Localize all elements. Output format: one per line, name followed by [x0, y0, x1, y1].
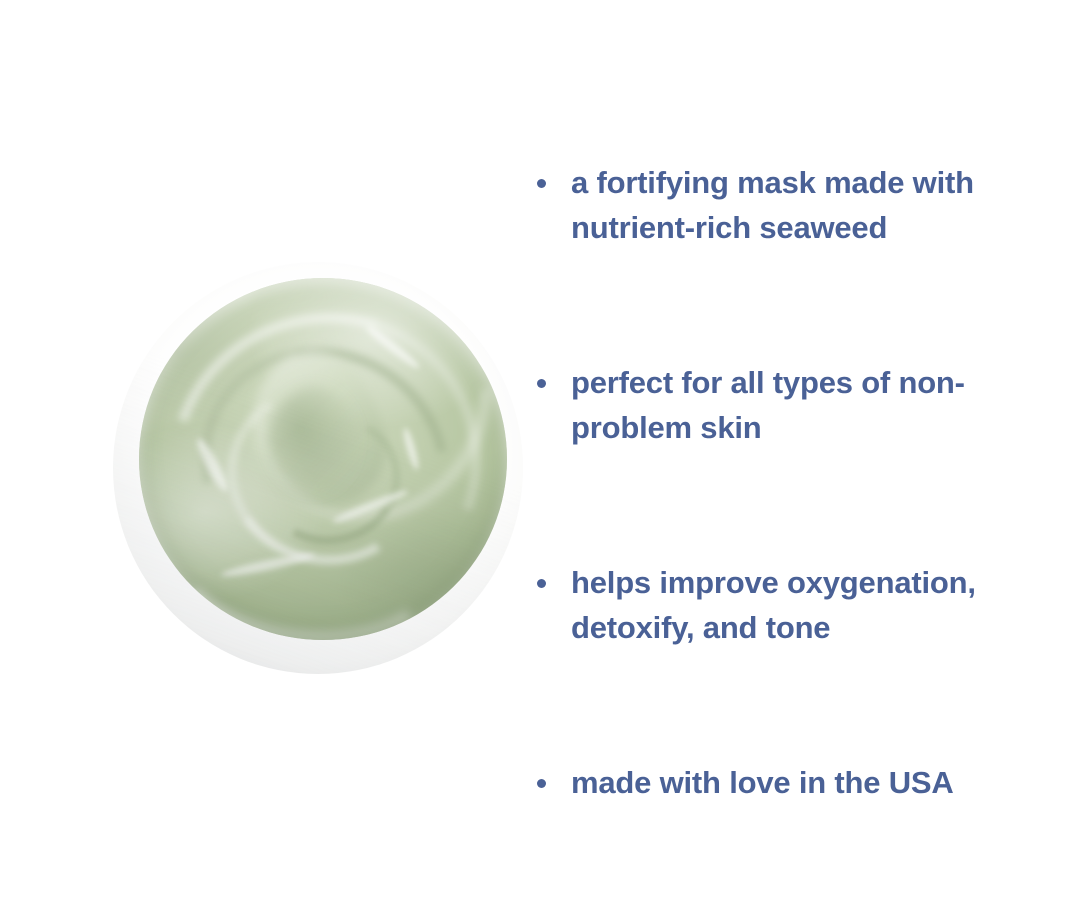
jar-rim [113, 262, 523, 674]
benefit-text: helps improve oxygenation, detoxify, and… [571, 560, 1049, 650]
bullet-icon [537, 379, 546, 388]
product-feature-canvas: a fortifying mask made with nutrient-ric… [0, 0, 1069, 913]
cream-swirl-ridge [208, 278, 507, 571]
benefit-text: a fortifying mask made with nutrient-ric… [571, 160, 1049, 250]
cream-highlight [194, 436, 232, 493]
cream-swirl-ridge [154, 300, 496, 637]
bullet-icon [537, 179, 546, 188]
list-item: helps improve oxygenation, detoxify, and… [531, 560, 1049, 650]
list-item: made with love in the USA [531, 760, 1049, 805]
cream-surface [139, 278, 507, 640]
cream-swirl-ridge [247, 400, 415, 559]
cream-center-peak [228, 334, 403, 526]
product-jar-image [113, 262, 523, 674]
cream-highlight [364, 324, 422, 372]
benefit-text: perfect for all types of non-problem ski… [571, 360, 1049, 450]
bullet-icon [537, 779, 546, 788]
bullet-icon [537, 579, 546, 588]
cream-swirl-ridge [211, 368, 438, 582]
cream-center-shadow [252, 374, 379, 509]
cream-swirl-ridge [139, 278, 507, 640]
list-item: perfect for all types of non-problem ski… [531, 360, 1049, 450]
cream-highlight [401, 426, 421, 471]
cream-swirl-ridge [152, 430, 465, 640]
cream-highlight [220, 551, 316, 581]
benefit-text: made with love in the USA [571, 760, 1049, 805]
cream-highlight [332, 488, 411, 527]
benefits-list: a fortifying mask made with nutrient-ric… [531, 160, 1049, 805]
list-item: a fortifying mask made with nutrient-ric… [531, 160, 1049, 250]
